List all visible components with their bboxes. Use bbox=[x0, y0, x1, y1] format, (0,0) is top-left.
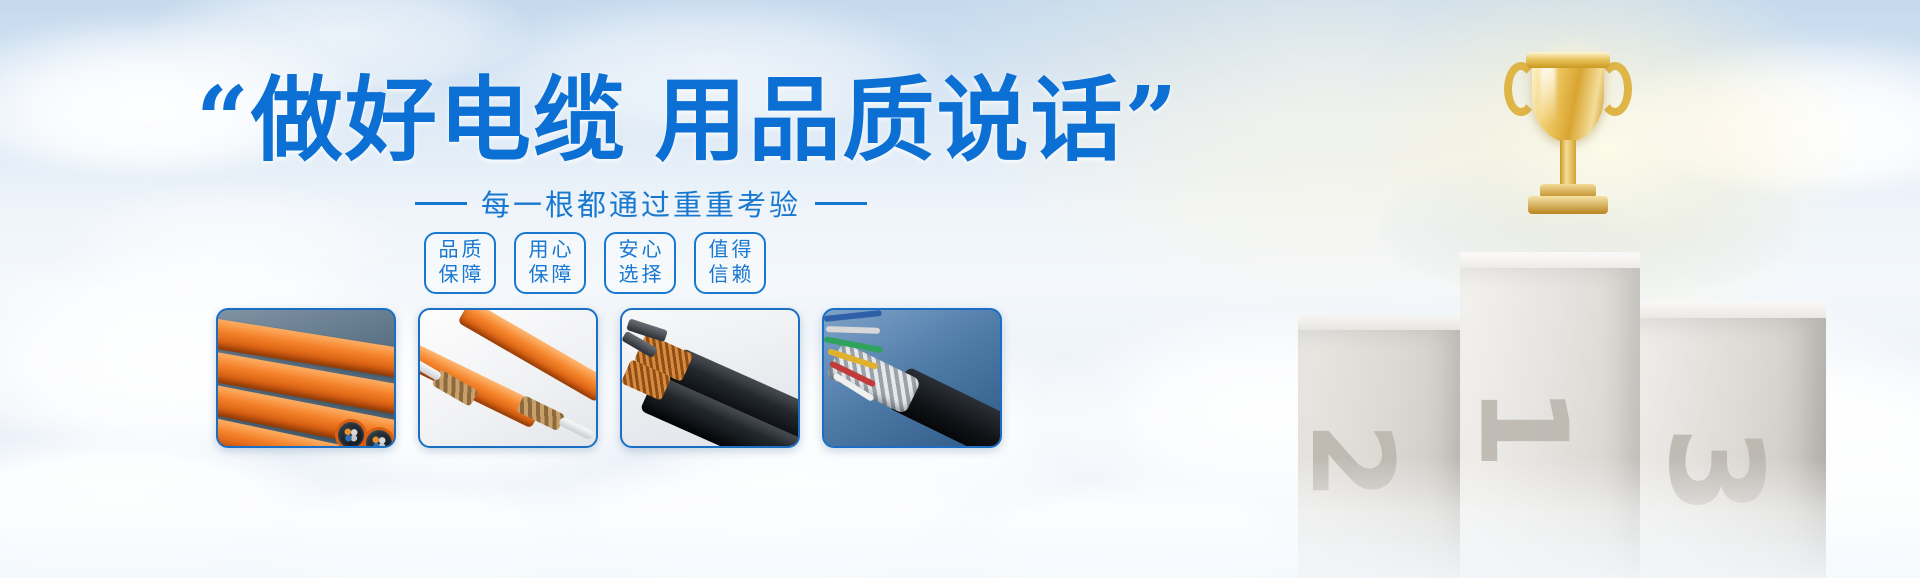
thumbnail-black-armoured-cable[interactable] bbox=[620, 308, 800, 448]
open-quote: “ bbox=[196, 66, 251, 174]
badge-line1: 值得 bbox=[706, 238, 755, 263]
badge-quality-guarantee[interactable]: 品质 保障 bbox=[424, 232, 496, 294]
banner-headline: “做好电缆 用品质说话” bbox=[196, 72, 1179, 170]
badge-line2: 信赖 bbox=[706, 263, 755, 288]
badge-line2: 选择 bbox=[616, 263, 665, 288]
close-quote: ” bbox=[1124, 66, 1179, 174]
badge-line1: 用心 bbox=[526, 238, 575, 263]
thumbnail-orange-cable-bundle[interactable] bbox=[216, 308, 396, 448]
feature-badges: 品质 保障 用心 保障 安心 选择 值得 信赖 bbox=[424, 232, 766, 294]
thumbnail-shielded-multicore-cable[interactable] bbox=[822, 308, 1002, 448]
badge-line2: 保障 bbox=[436, 263, 485, 288]
thumbnail-stripped-orange-cables[interactable] bbox=[418, 308, 598, 448]
headline-text: 做好电缆 用品质说话 bbox=[251, 70, 1125, 172]
subtitle-rule-right bbox=[815, 202, 867, 205]
product-thumbnails bbox=[216, 308, 1002, 448]
badge-confident-choice[interactable]: 安心 选择 bbox=[604, 232, 676, 294]
foreground-fog bbox=[0, 458, 1920, 578]
badge-line2: 保障 bbox=[526, 263, 575, 288]
badge-trustworthy[interactable]: 值得 信赖 bbox=[694, 232, 766, 294]
banner-subtitle: 每一根都通过重重考验 bbox=[415, 182, 867, 224]
badge-line1: 安心 bbox=[616, 238, 665, 263]
podium-rank-1: 1 bbox=[1452, 386, 1591, 470]
badge-attentive-guarantee[interactable]: 用心 保障 bbox=[514, 232, 586, 294]
badge-line1: 品质 bbox=[436, 238, 485, 263]
promo-banner: 2 3 1 “做好电缆 用品质说话” 每一根都通过重重考验 品质 保障 用心 保… bbox=[0, 0, 1920, 578]
trophy-icon bbox=[1508, 36, 1628, 256]
subtitle-text: 每一根都通过重重考验 bbox=[481, 182, 801, 224]
subtitle-rule-left bbox=[415, 202, 467, 205]
